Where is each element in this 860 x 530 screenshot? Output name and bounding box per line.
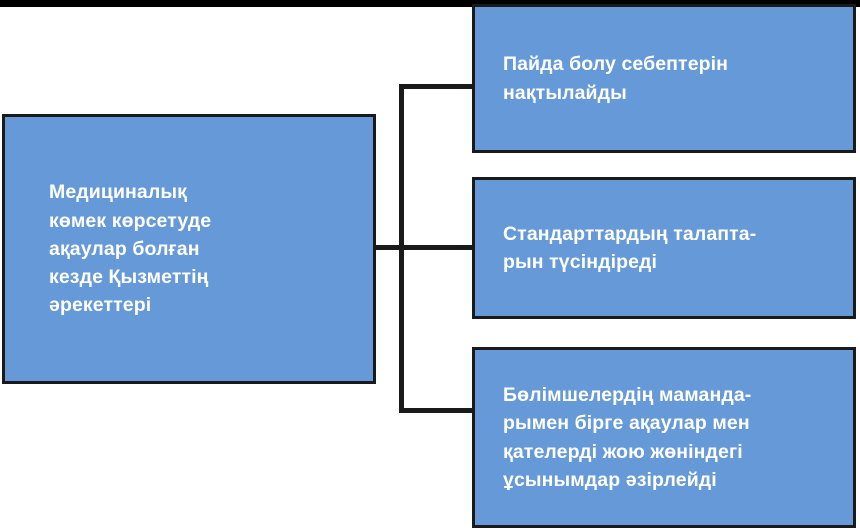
node-branch-2[interactable]: Стандарттардың талапта- рын түсіндіреді bbox=[472, 177, 856, 319]
node-branch-1[interactable]: Пайда болу себептерін нақтылайды bbox=[472, 4, 856, 153]
connector-arm-branch-1 bbox=[399, 84, 474, 89]
node-branch-3-label: Бөлімшелердің маманда- рымен бірге ақаул… bbox=[475, 381, 763, 494]
connector-arm-branch-2 bbox=[399, 245, 474, 250]
diagram-canvas: Медициналық көмек көрсетуде ақаулар болғ… bbox=[0, 0, 860, 530]
node-branch-2-label: Стандарттардың талапта- рын түсіндіреді bbox=[475, 220, 768, 277]
node-root[interactable]: Медициналық көмек көрсетуде ақаулар болғ… bbox=[2, 114, 376, 384]
node-root-label: Медициналық көмек көрсетуде ақаулар болғ… bbox=[5, 178, 225, 319]
node-branch-1-label: Пайда болу себептерін нақтылайды bbox=[475, 50, 740, 107]
connector-arm-branch-3 bbox=[399, 408, 474, 413]
node-branch-3[interactable]: Бөлімшелердің маманда- рымен бірге ақаул… bbox=[472, 347, 856, 528]
